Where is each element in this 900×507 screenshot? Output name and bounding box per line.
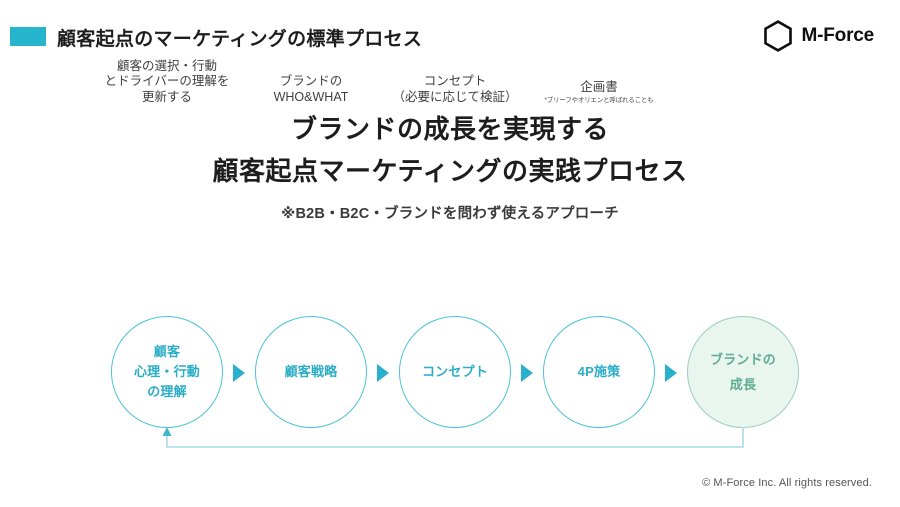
step-caption-note-4: *ブリーフやオリエンと呼ばれることも xyxy=(504,96,694,105)
process-circle-label-2: 顧客戦略 xyxy=(285,362,338,382)
process-circle-1[interactable]: 顧客心理・行動の理解 xyxy=(111,316,223,428)
arrow-1-to-2-icon xyxy=(233,364,245,382)
arrow-4-to-5-icon xyxy=(665,364,677,382)
process-circle-label-4: 4P施策 xyxy=(578,362,621,382)
feedback-loop xyxy=(0,415,900,465)
arrow-2-to-3-icon xyxy=(377,364,389,382)
main-title-line-1: ブランドの成長を実現する xyxy=(0,108,900,150)
hexagon-outline-icon xyxy=(763,20,793,52)
process-circle-2[interactable]: 顧客戦略 xyxy=(255,316,367,428)
process-circle-label-5: ブランドの成長 xyxy=(710,347,776,397)
step-caption-4: 企画書*ブリーフやオリエンと呼ばれることも xyxy=(504,80,694,106)
process-circle-label-1: 顧客心理・行動の理解 xyxy=(134,342,200,402)
header-title: 顧客起点のマーケティングの標準プロセス xyxy=(57,24,422,51)
feedback-loop-arrow xyxy=(0,415,900,465)
process-circle-3[interactable]: コンセプト xyxy=(399,316,511,428)
process-circle-4[interactable]: 4P施策 xyxy=(543,316,655,428)
subtitle: ※B2B・B2C・ブランドを問わず使えるアプローチ xyxy=(0,202,900,223)
process-circle-5[interactable]: ブランドの成長 xyxy=(687,316,799,428)
header-accent-bar xyxy=(10,27,46,46)
arrow-3-to-4-icon xyxy=(521,364,533,382)
main-title-line-2: 顧客起点マーケティングの実践プロセス xyxy=(0,150,900,192)
footer-copyright: © M-Force Inc. All rights reserved. xyxy=(702,477,872,489)
brand-logo: M-Force xyxy=(763,20,875,52)
title-block: ブランドの成長を実現する 顧客起点マーケティングの実践プロセス ※B2B・B2C… xyxy=(0,108,900,223)
process-circle-label-3: コンセプト xyxy=(422,362,488,382)
brand-logo-text: M-Force xyxy=(802,25,875,47)
slide-canvas: 顧客起点のマーケティングの標準プロセス M-Force ブランドの成長を実現する… xyxy=(0,0,900,507)
